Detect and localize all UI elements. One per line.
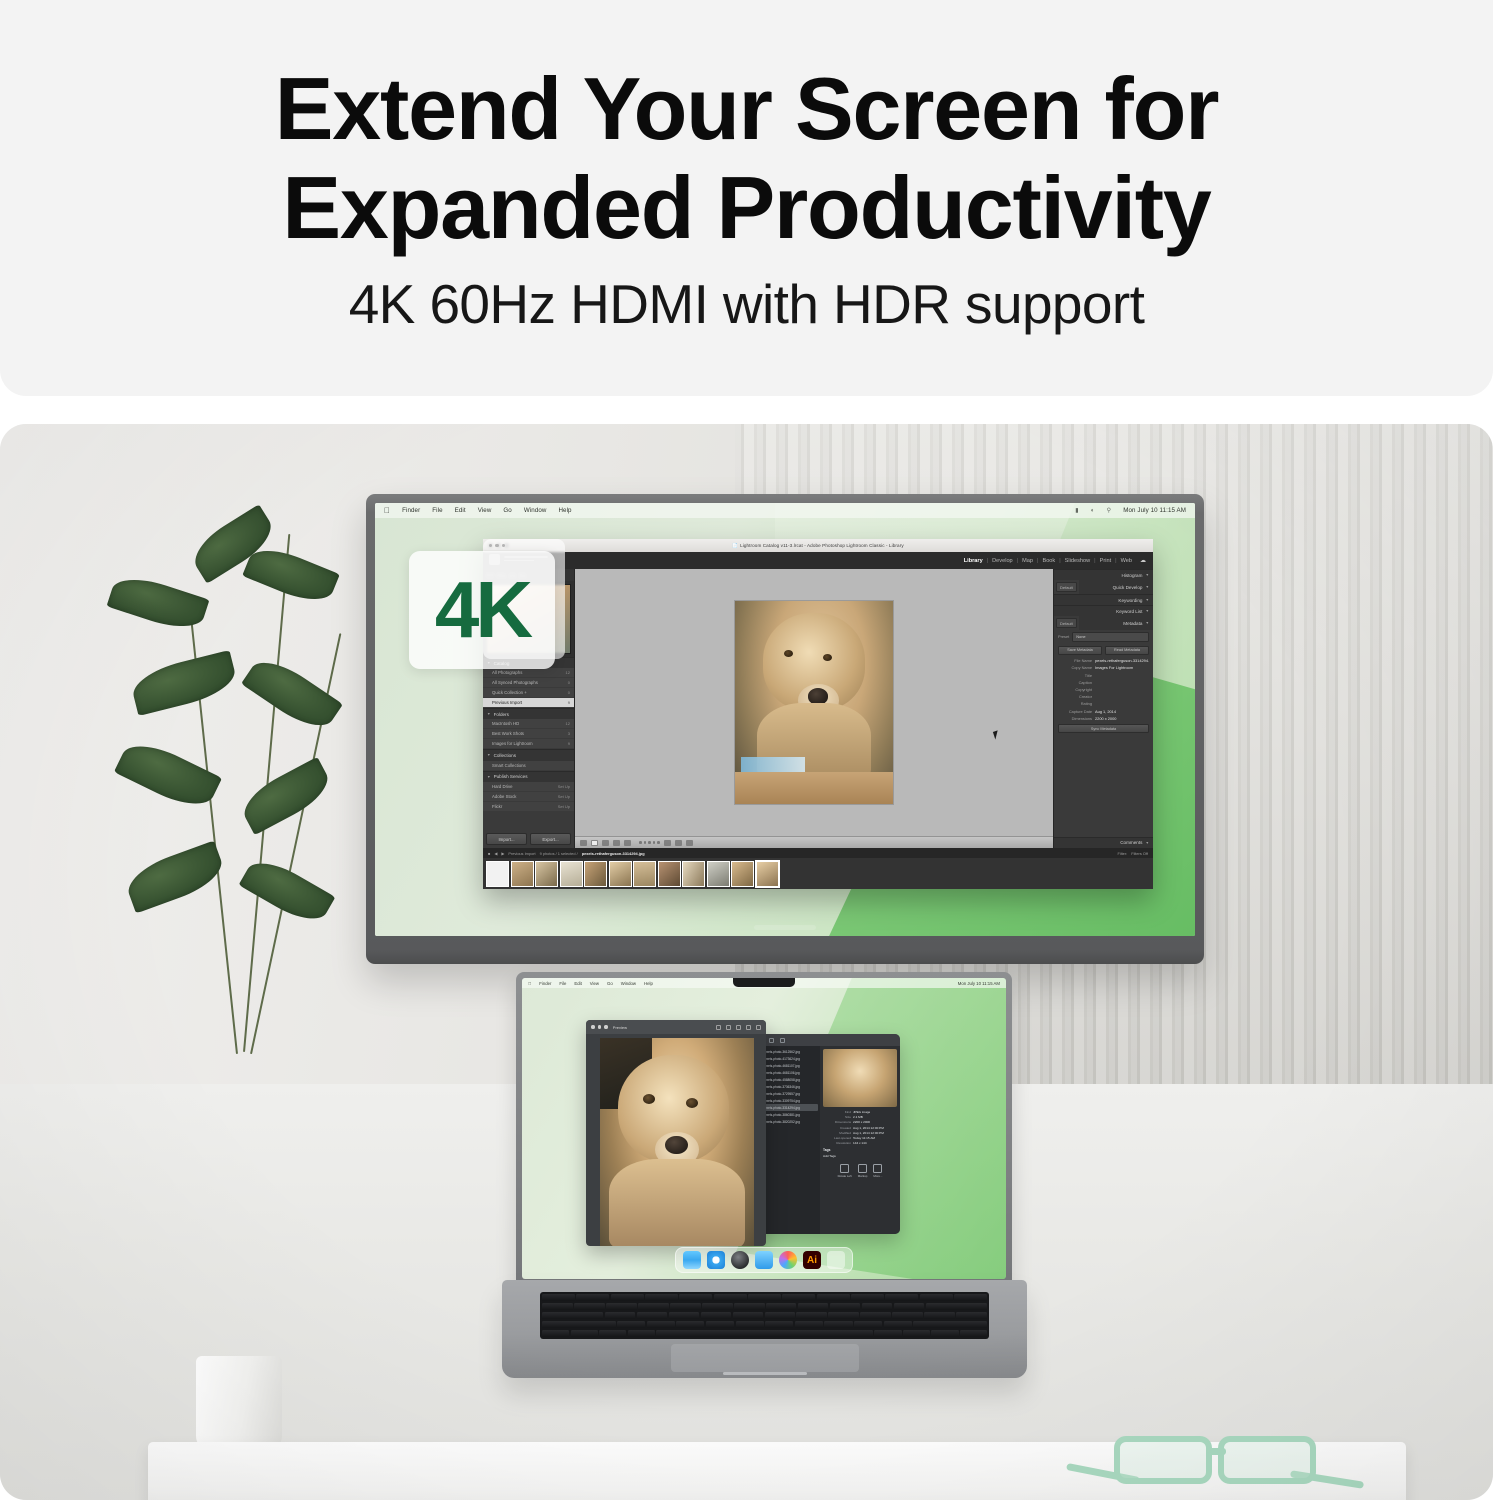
panel-label-comments: Comments xyxy=(1120,840,1142,845)
laptop-menubar-edit[interactable]: Edit xyxy=(574,981,581,986)
badge-label: 4K xyxy=(435,570,529,650)
metadata-field-copy-name: Copy Name Images For Lightroom xyxy=(1054,664,1153,671)
photo-book xyxy=(741,757,804,771)
file-name: pexels-photo-4681107.jpg xyxy=(763,1064,800,1068)
module-list[interactable]: Library | Develop | Map | Book | Slidesh… xyxy=(964,557,1146,564)
field-value[interactable] xyxy=(1095,673,1149,678)
menubar-item-file[interactable]: File xyxy=(432,507,442,514)
spray-icon[interactable] xyxy=(686,840,693,846)
panel-head-histogram[interactable]: Histogram ▼ xyxy=(1054,569,1153,580)
info-key: Kind xyxy=(823,1110,851,1114)
photo-dog-nose xyxy=(665,1136,688,1155)
catalog-row-quick-collection[interactable]: Quick Collection + 0 xyxy=(483,688,574,698)
info-value: 2200 x 2000 xyxy=(853,1120,870,1124)
lightroom-title-text: Lightroom Catalog v11-3.lrcat - Adobe Ph… xyxy=(740,543,904,548)
info-value: 2.1 MB xyxy=(853,1115,863,1119)
headline-line-1: Extend Your Screen for xyxy=(275,59,1219,158)
filmstrip[interactable] xyxy=(483,858,1153,889)
info-row: KindJPEG image xyxy=(823,1110,897,1114)
field-value[interactable] xyxy=(1095,701,1149,706)
info-value: 144 x 144 xyxy=(853,1141,867,1145)
markup-icon xyxy=(858,1164,867,1173)
trash-icon[interactable] xyxy=(827,1251,845,1269)
monitor-screen:  Finder File Edit View Go Window Help ▮… xyxy=(375,503,1195,936)
lightroom-titlebar[interactable]: 📄Lightroom Catalog v11-3.lrcat - Adobe P… xyxy=(483,539,1153,552)
panel-label-keywording: Keywording xyxy=(1118,598,1142,603)
panel-head-publish-services[interactable]: ▼ Publish Services xyxy=(483,771,574,782)
metadata-preset-row[interactable]: Preset None xyxy=(1054,630,1153,643)
module-separator: | xyxy=(987,558,988,564)
row-count: 0 xyxy=(568,690,570,695)
panel-head-keyword-list[interactable]: Keyword List ▼ xyxy=(1054,605,1153,616)
file-name: pexels-photo-4173624.jpg xyxy=(763,1057,800,1061)
row-count: 12 xyxy=(566,670,570,675)
apple-menu-icon[interactable]:  xyxy=(384,507,390,515)
filmstrip-thumb[interactable] xyxy=(658,861,681,887)
compare-view-icon[interactable] xyxy=(602,840,609,846)
module-develop[interactable]: Develop xyxy=(992,558,1013,564)
info-key: Last opened xyxy=(823,1136,851,1140)
laptop-notch xyxy=(733,978,795,987)
file-name: pexels-photo-3860381.jpg xyxy=(763,1113,800,1117)
menubar-item-edit[interactable]: Edit xyxy=(455,507,466,514)
filmstrip-filter-label: Filter: xyxy=(1117,851,1127,856)
panel-label-collections: Collections xyxy=(494,753,570,758)
menubar-clock[interactable]: Mon July 10 11:15 AM xyxy=(1123,507,1186,514)
rotate-left-icon xyxy=(840,1164,849,1173)
filmstrip-grid-icon[interactable]: ■ xyxy=(488,851,490,856)
external-monitor:  Finder File Edit View Go Window Help ▮… xyxy=(366,494,1204,964)
filmstrip-filename: pexels-rethaferguson-3314294.jpg xyxy=(582,851,645,856)
field-key: Copy Name xyxy=(1058,665,1092,670)
collections-row-smart[interactable]: Smart Collections xyxy=(483,761,574,771)
info-value: Today 11:15 AM xyxy=(853,1136,875,1140)
grid-view-icon[interactable] xyxy=(580,840,587,846)
monitor-bezel:  Finder File Edit View Go Window Help ▮… xyxy=(366,494,1204,964)
panel-label-publish-services: Publish Services xyxy=(494,774,570,779)
row-label: Previous Import xyxy=(492,700,522,705)
headline-line-2: Expanded Productivity xyxy=(275,159,1219,258)
laptop-menubar-view[interactable]: View xyxy=(590,981,599,986)
field-value[interactable] xyxy=(1095,687,1149,692)
rotate-left-icon[interactable] xyxy=(716,1025,721,1030)
row-label: Smart Collections xyxy=(492,763,526,768)
row-count: 3 xyxy=(568,731,570,736)
lightroom-body: FIT FILL 1:1 3:1 ▼ Cat xyxy=(483,569,1153,848)
plant-pot xyxy=(196,1356,282,1452)
subheadline: 4K 60Hz HDMI with HDR support xyxy=(349,272,1145,336)
module-web[interactable]: Web xyxy=(1121,558,1132,564)
catalog-row-all-photographs[interactable]: All Photographs 12 xyxy=(483,668,574,678)
panel-head-metadata[interactable]: Metadata ▼ xyxy=(1079,616,1153,630)
chevron-down-icon[interactable]: ▼ xyxy=(1145,609,1149,613)
chevron-down-icon[interactable]: ▼ xyxy=(1145,621,1149,625)
more-button[interactable]: More... xyxy=(873,1164,882,1179)
panel-label-folders: Folders xyxy=(494,712,570,717)
panel-head-quick-develop[interactable]: Quick Develop ▼ xyxy=(1079,580,1153,594)
mail-icon[interactable] xyxy=(755,1251,773,1269)
preview-toolbar[interactable] xyxy=(716,1025,761,1030)
glasses-lens xyxy=(1114,1436,1212,1484)
laptop-base xyxy=(502,1280,1027,1378)
panel-head-comments[interactable]: Comments ▼ xyxy=(1054,837,1153,848)
metadata-field-dimensions: Dimensions 2200 x 2000 xyxy=(1054,715,1153,722)
filmstrip-thumb[interactable] xyxy=(535,861,558,887)
keyboard-row-numbers[interactable] xyxy=(542,1303,987,1310)
more-icon xyxy=(873,1164,882,1173)
publish-row-adobe-stock[interactable]: Adobe Stock Set Up xyxy=(483,792,574,802)
filmstrip-thumb[interactable] xyxy=(609,861,632,887)
publish-row-hard-drive[interactable]: Hard Drive Set Up xyxy=(483,782,574,792)
module-library[interactable]: Library xyxy=(964,558,983,564)
metadata-buttons[interactable]: Save Metadata Read Metadata xyxy=(1054,644,1153,658)
laptop-dock[interactable]: Ai xyxy=(675,1247,853,1273)
menubar-item-view[interactable]: View xyxy=(478,507,492,514)
module-separator: | xyxy=(1094,558,1095,564)
info-row: Resolution144 x 144 xyxy=(823,1141,897,1145)
preview-window[interactable]: Preview xyxy=(586,1020,766,1246)
metadata-field-caption: Caption xyxy=(1054,679,1153,686)
loupe-view[interactable] xyxy=(575,569,1053,836)
laptop-lid-notch xyxy=(723,1372,807,1375)
markup-button[interactable]: Markup xyxy=(858,1164,868,1179)
glasses-lens xyxy=(1218,1436,1316,1484)
maximize-icon xyxy=(604,1025,608,1029)
metadata-field-title: Title xyxy=(1054,671,1153,678)
filmstrip-thumb[interactable] xyxy=(486,861,509,887)
row-label: Quick Collection + xyxy=(492,690,527,695)
chevron-down-icon[interactable]: ▼ xyxy=(487,712,491,716)
panel-head-collections[interactable]: ▼ Collections xyxy=(483,749,574,760)
row-count: 9 xyxy=(568,741,570,746)
laptop-menubar-file[interactable]: File xyxy=(559,981,566,986)
file-name: pexels-photo-3736346.jpg xyxy=(763,1085,800,1089)
minimize-icon xyxy=(598,1025,602,1029)
info-row: Dimensions2200 x 2000 xyxy=(823,1120,897,1124)
markup-icon[interactable] xyxy=(736,1025,741,1030)
preview-titlebar[interactable]: Preview xyxy=(586,1020,766,1034)
panel-head-folders[interactable]: ▼ Folders xyxy=(483,708,574,719)
action-icon[interactable] xyxy=(769,1038,774,1043)
row-count: 0 xyxy=(568,680,570,685)
laptop-trackpad[interactable] xyxy=(671,1344,859,1372)
row-label: Best Work Shots xyxy=(492,731,524,736)
module-separator: | xyxy=(1017,558,1018,564)
panel-label-metadata: Metadata xyxy=(1123,621,1142,626)
metadata-row[interactable]: Default Metadata ▼ xyxy=(1054,616,1153,630)
row-label: Images for Lightroom xyxy=(492,741,533,746)
panel-head-keywording[interactable]: Keywording ▼ xyxy=(1054,594,1153,605)
folder-row-best-work-shots[interactable]: Best Work Shots 3 xyxy=(483,729,574,739)
row-label: All Photographs xyxy=(492,670,522,675)
button-label: More... xyxy=(873,1174,882,1178)
product-photo:  Finder File Edit View Go Window Help ▮… xyxy=(0,424,1493,1500)
zoom-icon[interactable] xyxy=(726,1025,731,1030)
finder-action-buttons[interactable]: Rotate Left Markup More... xyxy=(823,1164,897,1179)
rotate-left-button[interactable]: Rotate Left xyxy=(838,1164,852,1179)
resolution-badge: 4K xyxy=(409,551,555,669)
filmstrip-source[interactable]: Previous Import xyxy=(508,851,535,856)
preview-photo[interactable] xyxy=(600,1038,754,1246)
eyeglasses xyxy=(1114,1432,1328,1494)
chevron-down-icon[interactable]: ▼ xyxy=(1145,585,1149,589)
info-key: Size xyxy=(823,1115,851,1119)
module-separator: | xyxy=(1059,558,1060,564)
menubar-item-window[interactable]: Window xyxy=(524,507,547,514)
keyboard-row-function[interactable] xyxy=(542,1294,987,1301)
file-name: pexels-photo-3729557.jpg xyxy=(763,1092,800,1096)
file-name: pexels-photo-3309754.jpg xyxy=(763,1099,800,1103)
filmstrip-back-icon[interactable]: ◀ xyxy=(494,851,497,856)
filmstrip-forward-icon[interactable]: ▶ xyxy=(501,851,504,856)
filmstrip-thumb[interactable] xyxy=(707,861,730,887)
row-label: Flickr xyxy=(492,804,502,809)
photoshop-icon[interactable] xyxy=(731,1251,749,1269)
metadata-field-copyright: Copyright xyxy=(1054,686,1153,693)
chevron-down-icon[interactable]: ▼ xyxy=(487,775,491,779)
module-print[interactable]: Print xyxy=(1100,558,1112,564)
field-value[interactable]: 2200 x 2000 xyxy=(1095,716,1149,721)
field-value[interactable]: Images For Lightroom xyxy=(1095,665,1149,670)
metadata-preset-label: Preset xyxy=(1058,634,1069,639)
field-key: Rating xyxy=(1058,701,1092,706)
menubar-item-go[interactable]: Go xyxy=(503,507,511,514)
info-key: Modified xyxy=(823,1131,851,1135)
sync-metadata-row[interactable]: Sync Metadata xyxy=(1054,722,1153,736)
preview-window-title: Preview xyxy=(613,1025,627,1030)
left-panel-buttons[interactable]: Import... Export... xyxy=(483,830,574,848)
row-count: Set Up xyxy=(558,804,570,809)
module-separator: | xyxy=(1115,558,1116,564)
metadata-field-rating: Rating xyxy=(1054,700,1153,707)
chevron-down-icon[interactable]: ▼ xyxy=(1145,573,1149,577)
info-key: Created xyxy=(823,1126,851,1130)
people-view-icon[interactable] xyxy=(624,840,631,846)
photo-floor xyxy=(735,772,893,804)
module-map[interactable]: Map xyxy=(1022,558,1033,564)
battery-icon[interactable]: ▮ xyxy=(1075,507,1079,514)
laptop:  Finder File Edit View Go Window Help M… xyxy=(502,972,1027,1392)
loupe-view-icon[interactable] xyxy=(591,840,598,846)
right-panel-spacer xyxy=(1054,735,1153,836)
field-key: Capture Date xyxy=(1058,709,1092,714)
info-value: JPEG image xyxy=(853,1110,870,1114)
illustrator-icon[interactable]: Ai xyxy=(803,1251,821,1269)
laptop-menubar-help[interactable]: Help xyxy=(644,981,653,986)
field-key: File Name xyxy=(1058,658,1092,663)
photos-icon[interactable] xyxy=(779,1251,797,1269)
page-title: Extend Your Screen for Expanded Producti… xyxy=(275,60,1219,257)
laptop-keyboard[interactable] xyxy=(540,1292,989,1339)
file-name: pexels-photo-3314294.jpg xyxy=(763,1106,800,1110)
metadata-chip[interactable]: Default xyxy=(1056,618,1077,628)
info-row: Size2.1 MB xyxy=(823,1115,897,1119)
safari-icon[interactable] xyxy=(707,1251,725,1269)
lightroom-right-panel[interactable]: Histogram ▼ Default Quick Develop ▼ xyxy=(1053,569,1153,848)
field-value[interactable] xyxy=(1095,694,1149,699)
metadata-field-creator: Creator xyxy=(1054,693,1153,700)
lightroom-toolbar[interactable] xyxy=(575,836,1053,848)
chevron-down-icon[interactable]: ▼ xyxy=(1145,841,1149,845)
rotate-icon[interactable] xyxy=(675,840,682,846)
panel-label-histogram: Histogram xyxy=(1122,573,1143,578)
row-label: MacIntosh HD xyxy=(492,721,519,726)
field-key: Title xyxy=(1058,673,1092,678)
filmstrip-filter-value[interactable]: Filters Off xyxy=(1131,851,1148,856)
keyboard-row-qwerty[interactable] xyxy=(542,1312,987,1319)
selected-photo[interactable] xyxy=(734,600,894,805)
header-panel: Extend Your Screen for Expanded Producti… xyxy=(0,0,1493,396)
tags-heading: Tags xyxy=(823,1148,897,1152)
field-value[interactable] xyxy=(1095,680,1149,685)
file-name: pexels-photo-3612562.jpg xyxy=(763,1050,800,1054)
field-key: Caption xyxy=(1058,680,1092,685)
flag-icon[interactable] xyxy=(664,840,671,846)
button-label: Rotate Left xyxy=(838,1174,852,1178)
search-icon[interactable]: ⚲ xyxy=(1107,507,1112,514)
info-key: Resolution xyxy=(823,1141,851,1145)
tags-row[interactable]: Add Tags xyxy=(823,1154,897,1158)
filmstrip-thumb-selected[interactable] xyxy=(756,861,779,887)
field-value[interactable]: Aug 1, 2014 xyxy=(1095,709,1149,714)
field-value[interactable]: pexels-rethaferguson-3314294.jpg xyxy=(1095,658,1149,663)
module-separator: | xyxy=(1037,558,1038,564)
row-count: Set Up xyxy=(558,794,570,799)
lightroom-module-bar[interactable]: Library | Develop | Map | Book | Slidesh… xyxy=(483,552,1153,569)
monitor-brand-mark xyxy=(754,925,816,930)
export-button[interactable]: Export... xyxy=(530,833,571,845)
panel-label-quick-develop: Quick Develop xyxy=(1113,585,1143,590)
apple-menu-icon[interactable]:  xyxy=(528,981,531,986)
monitor-menubar[interactable]:  Finder File Edit View Go Window Help ▮… xyxy=(375,503,1195,518)
row-count: 9 xyxy=(568,700,570,705)
cloud-icon[interactable]: ☁ xyxy=(1140,557,1146,564)
lightroom-title: 📄Lightroom Catalog v11-3.lrcat - Adobe P… xyxy=(732,543,904,549)
import-button[interactable]: Import... xyxy=(486,833,527,845)
info-row: Last openedToday 11:15 AM xyxy=(823,1136,897,1140)
photo-dog-body xyxy=(609,1159,745,1246)
module-slideshow[interactable]: Slideshow xyxy=(1065,558,1091,564)
share-icon[interactable] xyxy=(746,1025,751,1030)
field-key: Dimensions xyxy=(1058,716,1092,721)
field-key: Copyright xyxy=(1058,687,1092,692)
metadata-preset-select[interactable]: None xyxy=(1072,632,1149,641)
info-value: Aug 1, 2014 12:00 PM xyxy=(853,1126,884,1130)
metadata-field-capture-date: Capture Date Aug 1, 2014 xyxy=(1054,707,1153,714)
filmstrip-thumb[interactable] xyxy=(511,861,534,887)
filmstrip-status-bar[interactable]: ■ ◀ ▶ Previous Import 9 photos / 1 selec… xyxy=(483,848,1153,858)
keyboard-row-home[interactable] xyxy=(542,1321,987,1328)
row-label: Adobe Stock xyxy=(492,794,516,799)
button-label: Markup xyxy=(858,1174,868,1178)
laptop-screen[interactable]:  Finder File Edit View Go Window Help M… xyxy=(522,978,1006,1279)
lightroom-canvas-area[interactable] xyxy=(575,569,1053,848)
module-book[interactable]: Book xyxy=(1042,558,1055,564)
filmstrip-thumb[interactable] xyxy=(633,861,656,887)
laptop-menubar-window[interactable]: Window xyxy=(621,981,636,986)
finder-preview-thumbnail xyxy=(823,1049,897,1107)
filmstrip-thumb[interactable] xyxy=(584,861,607,887)
finder-icon[interactable] xyxy=(683,1251,701,1269)
row-label: All Synced Photographs xyxy=(492,680,538,685)
tags-value[interactable]: Add Tags xyxy=(823,1154,836,1158)
menubar-item-help[interactable]: Help xyxy=(558,507,571,514)
row-label: Hard Drive xyxy=(492,784,513,789)
info-row: CreatedAug 1, 2014 12:00 PM xyxy=(823,1126,897,1130)
publish-row-flickr[interactable]: Flickr Set Up xyxy=(483,802,574,812)
filmstrip-thumb[interactable] xyxy=(560,861,583,887)
chevron-down-icon[interactable]: ▼ xyxy=(487,753,491,757)
laptop-menubar-finder[interactable]: Finder xyxy=(539,981,551,986)
read-metadata-button[interactable]: Read Metadata xyxy=(1105,646,1149,656)
photo-dog-eye xyxy=(784,650,793,657)
folder-row-macintosh-hd[interactable]: MacIntosh HD 12 xyxy=(483,719,574,729)
wifi-icon[interactable]: ◐ xyxy=(1091,507,1095,514)
file-name: pexels-photo-4681106.jpg xyxy=(763,1071,800,1075)
glasses-bridge xyxy=(1206,1448,1226,1455)
laptop-lid:  Finder File Edit View Go Window Help M… xyxy=(516,972,1012,1288)
save-metadata-button[interactable]: Save Metadata xyxy=(1058,646,1102,656)
product-marketing-page: Extend Your Screen for Expanded Producti… xyxy=(0,0,1493,1500)
info-key: Dimensions xyxy=(823,1120,851,1124)
file-name: pexels-photo-4588058.jpg xyxy=(763,1078,800,1082)
filmstrip-status: 9 photos / 1 selected / xyxy=(540,851,578,856)
row-count: Set Up xyxy=(558,784,570,789)
lightroom-window[interactable]: 📄Lightroom Catalog v11-3.lrcat - Adobe P… xyxy=(483,539,1153,889)
filmstrip-thumb[interactable] xyxy=(682,861,705,887)
document-icon: 📄 xyxy=(732,543,738,548)
quick-develop-row[interactable]: Default Quick Develop ▼ xyxy=(1054,580,1153,594)
info-value: Aug 1, 2014 12:00 PM xyxy=(853,1131,884,1135)
rating-stars[interactable] xyxy=(639,841,660,844)
window-controls[interactable] xyxy=(591,1025,608,1029)
survey-view-icon[interactable] xyxy=(613,840,620,846)
info-row: ModifiedAug 1, 2014 12:00 PM xyxy=(823,1131,897,1135)
folder-row-images-for-lightroom[interactable]: Images for Lightroom 9 xyxy=(483,739,574,749)
sync-metadata-button[interactable]: Sync Metadata xyxy=(1058,724,1149,734)
close-icon xyxy=(591,1025,595,1029)
catalog-row-previous-import[interactable]: Previous Import 9 xyxy=(483,698,574,708)
file-name: pexels-photo-3820252.jpg xyxy=(763,1120,800,1124)
keyboard-row-bottom[interactable] xyxy=(542,1330,987,1337)
row-count: 12 xyxy=(566,721,570,726)
finder-preview-pane: KindJPEG image Size2.1 MB Dimensions2200… xyxy=(820,1046,900,1234)
field-key: Creator xyxy=(1058,694,1092,699)
panel-label-keyword-list: Keyword List xyxy=(1116,609,1142,614)
catalog-row-all-synced[interactable]: All Synced Photographs 0 xyxy=(483,678,574,688)
search-icon[interactable] xyxy=(780,1038,785,1043)
menubar-item-finder[interactable]: Finder xyxy=(402,507,420,514)
chevron-down-icon[interactable]: ▼ xyxy=(1145,598,1149,602)
laptop-menubar-clock[interactable]: Mon July 10 11:15 AM xyxy=(958,981,1000,986)
quick-develop-chip[interactable]: Default xyxy=(1056,582,1077,592)
metadata-field-file-name: File Name pexels-rethaferguson-3314294.j… xyxy=(1054,657,1153,664)
laptop-menubar-go[interactable]: Go xyxy=(607,981,613,986)
search-icon[interactable] xyxy=(756,1025,761,1030)
filmstrip-thumb[interactable] xyxy=(731,861,754,887)
